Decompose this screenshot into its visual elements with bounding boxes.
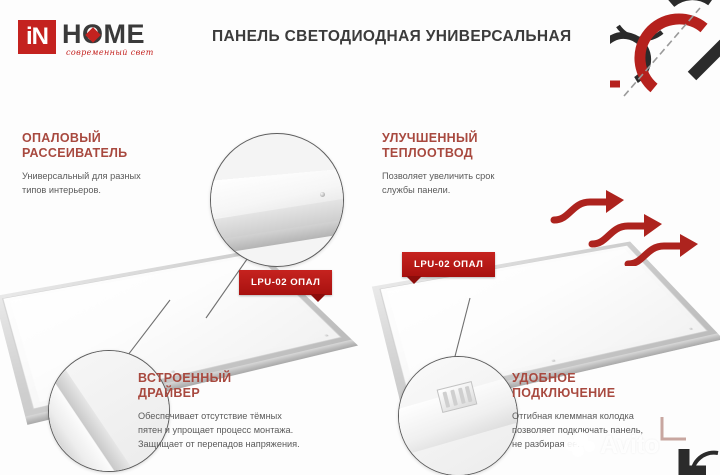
feature-opal-diffuser: ОПАЛОВЫЙ РАССЕИВАТЕЛЬ Универсальный для … — [22, 131, 202, 197]
feature-desc-line3: Защищает от перепадов напряжения. — [138, 439, 300, 449]
feature-heading-line2: ДРАЙВЕР — [138, 386, 200, 400]
feature-desc-line1: Обеспечивает отсутствие тёмных — [138, 411, 282, 421]
feature-description: Универсальный для разных типов интерьеро… — [22, 169, 202, 198]
feature-heading-line1: УЛУЧШЕННЫЙ — [382, 131, 478, 145]
panel-screw-icon — [320, 192, 325, 197]
feature-heat-dissipation: УЛУЧШЕННЫЙ ТЕПЛООТВОД Позволяет увеличит… — [382, 131, 572, 197]
badge-label: LPU-02 ОПАЛ — [414, 259, 483, 270]
badge-label: LPU-02 ОПАЛ — [251, 277, 320, 288]
feature-description: Позволяет увеличить срок службы панели. — [382, 169, 572, 198]
logo-word-pre: H — [62, 19, 82, 49]
feature-desc-line1: Универсальный для разных — [22, 171, 141, 181]
logo-word-o-slot: O — [82, 21, 104, 48]
heat-flow-arrow-icon — [554, 202, 612, 220]
feature-desc-line2: службы панели. — [382, 185, 450, 195]
magnifier-circle-panel-edge-icon — [210, 133, 344, 267]
callout-content — [211, 134, 343, 266]
product-badge-left[interactable]: LPU-02 ОПАЛ — [239, 270, 332, 295]
in-home-logo-icon: iN — [18, 20, 56, 54]
badge-notch-icon — [310, 294, 326, 302]
feature-heading: ВСТРОЕННЫЙ ДРАЙВЕР — [138, 371, 353, 402]
logo-tagline: современный свет — [66, 48, 154, 57]
feature-heading: УЛУЧШЕННЫЙ ТЕПЛООТВОД — [382, 131, 572, 162]
heat-flow-arrows — [548, 186, 718, 266]
feature-desc-line2: типов интерьеров. — [22, 185, 101, 195]
abstract-arcs-decoration-icon — [610, 0, 720, 118]
feature-heading-line2: ТЕПЛООТВОД — [382, 146, 473, 160]
avito-watermark-icon: Avito — [565, 424, 715, 466]
feature-heading-line2: РАССЕИВАТЕЛЬ — [22, 146, 127, 160]
terminal-pin — [442, 391, 450, 407]
logo-word-post: ME — [104, 19, 146, 49]
feature-desc-line1: Отгибная клеммная колодка — [512, 411, 634, 421]
magnifier-circle-terminal-block-icon — [398, 356, 518, 475]
feature-description: Обеспечивает отсутствие тёмных пятен и у… — [138, 409, 353, 452]
brand-logo: iN HOME современный свет — [18, 18, 168, 60]
heat-flow-arrow-icon — [628, 246, 686, 264]
logo-wordmark: HOME — [62, 21, 145, 48]
feature-heading-line1: ВСТРОЕННЫЙ — [138, 371, 231, 385]
panel-screw-icon — [689, 328, 693, 330]
feature-heading: ОПАЛОВЫЙ РАССЕИВАТЕЛЬ — [22, 131, 202, 162]
badge-notch-icon — [406, 276, 422, 284]
product-badge-right[interactable]: LPU-02 ОПАЛ — [402, 252, 495, 277]
watermark-dots — [565, 432, 599, 458]
terminal-pin — [450, 389, 458, 405]
feature-heading-line2: ПОДКЛЮЧЕНИЕ — [512, 386, 615, 400]
promo-banner: iN HOME современный свет ПАНЕЛЬ СВЕТОДИО… — [0, 0, 720, 475]
feature-heading-line1: ОПАЛОВЫЙ — [22, 131, 101, 145]
callout-content — [399, 357, 517, 475]
watermark-text: Avito — [600, 431, 659, 460]
feature-desc-line2: пятен и упрощает процесс монтажа. — [138, 425, 293, 435]
panel-screw-icon — [324, 334, 329, 336]
feature-desc-line1: Позволяет увеличить срок — [382, 171, 494, 181]
panel-screw-icon — [551, 359, 555, 362]
terminal-pin — [458, 388, 466, 404]
page-title: ПАНЕЛЬ СВЕТОДИОДНАЯ УНИВЕРСАЛЬНАЯ — [212, 28, 572, 46]
feature-built-in-driver: ВСТРОЕННЫЙ ДРАЙВЕР Обеспечивает отсутств… — [138, 371, 353, 451]
feature-heading: УДОБНОЕ ПОДКЛЮЧЕНИЕ — [512, 371, 712, 402]
feature-heading-line1: УДОБНОЕ — [512, 371, 576, 385]
heat-flow-arrow-icon — [592, 226, 650, 244]
terminal-pin — [465, 386, 473, 402]
logo-mark-text: iN — [26, 25, 48, 49]
